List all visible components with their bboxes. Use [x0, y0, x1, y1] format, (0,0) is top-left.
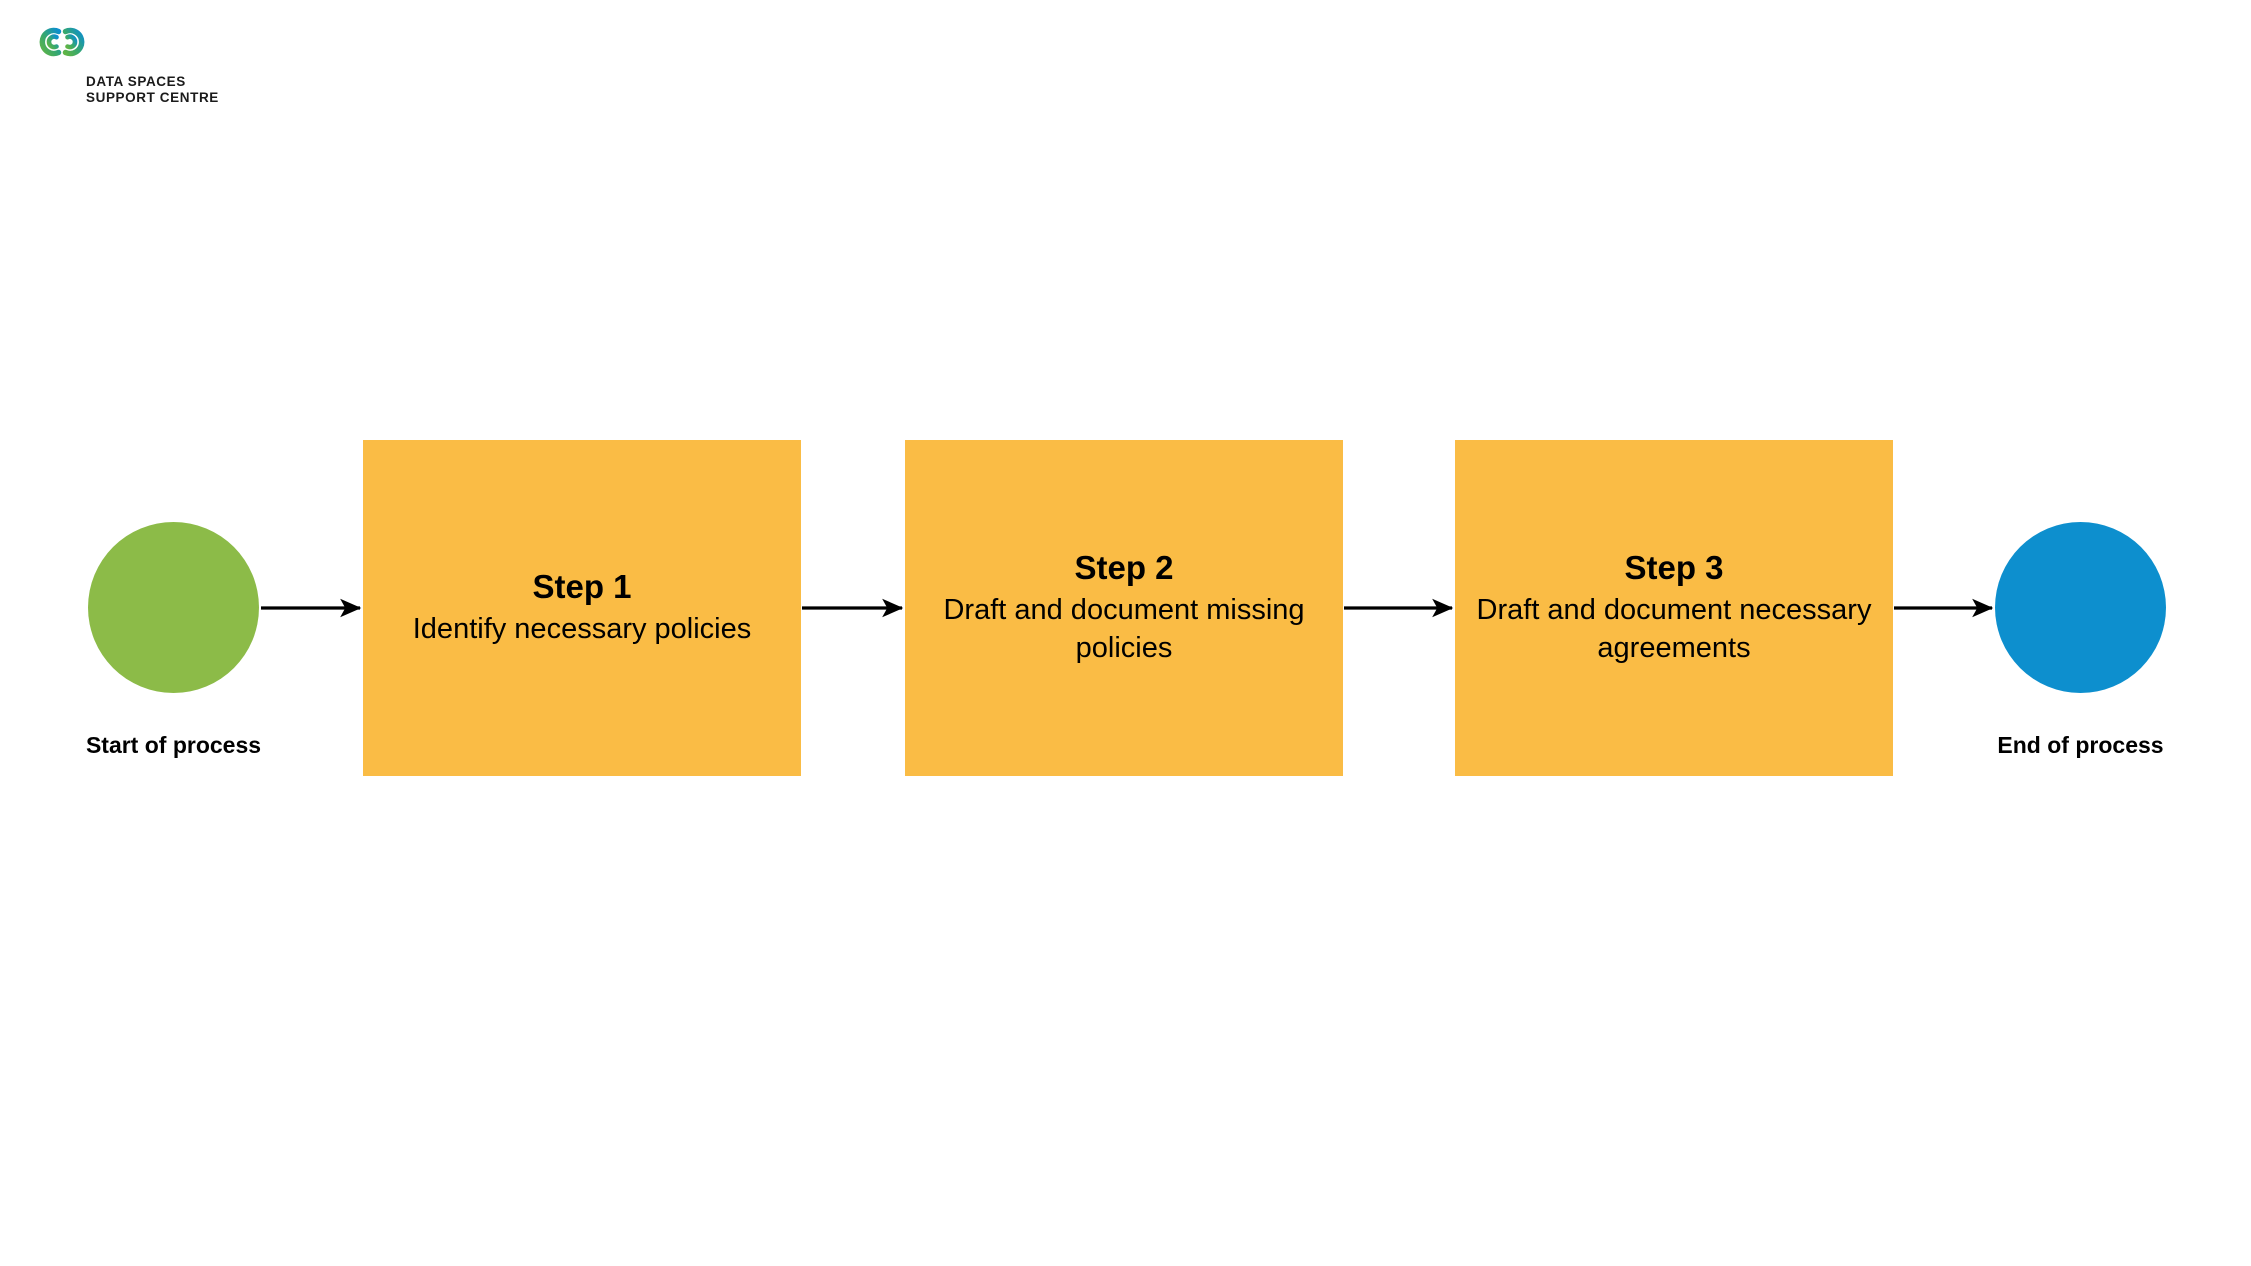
- end-node: [1995, 522, 2166, 693]
- data-spaces-support-centre-logo-icon: [34, 14, 90, 70]
- process-step-3-description: Draft and document necessary agreements: [1465, 592, 1883, 667]
- process-step-2-description: Draft and document missing policies: [915, 592, 1333, 667]
- brand-wordmark-line-2: SUPPORT CENTRE: [86, 90, 219, 106]
- process-step-3-title: Step 3: [1624, 548, 1723, 588]
- start-node-label: Start of process: [0, 732, 347, 759]
- brand-logo: DATA SPACES SUPPORT CENTRE: [34, 14, 264, 94]
- start-node: [88, 522, 259, 693]
- process-step-2: Step 2 Draft and document missing polici…: [905, 440, 1343, 776]
- process-step-1-description: Identify necessary policies: [413, 611, 752, 649]
- process-step-1: Step 1 Identify necessary policies: [363, 440, 801, 776]
- end-node-label: End of process: [1907, 732, 2251, 759]
- brand-wordmark: DATA SPACES SUPPORT CENTRE: [86, 74, 219, 106]
- process-step-3: Step 3 Draft and document necessary agre…: [1455, 440, 1893, 776]
- process-step-1-title: Step 1: [532, 567, 631, 607]
- diagram-canvas: DATA SPACES SUPPORT CENTRE Start of proc…: [0, 0, 2251, 1266]
- process-step-2-title: Step 2: [1074, 548, 1173, 588]
- brand-wordmark-line-1: DATA SPACES: [86, 74, 219, 90]
